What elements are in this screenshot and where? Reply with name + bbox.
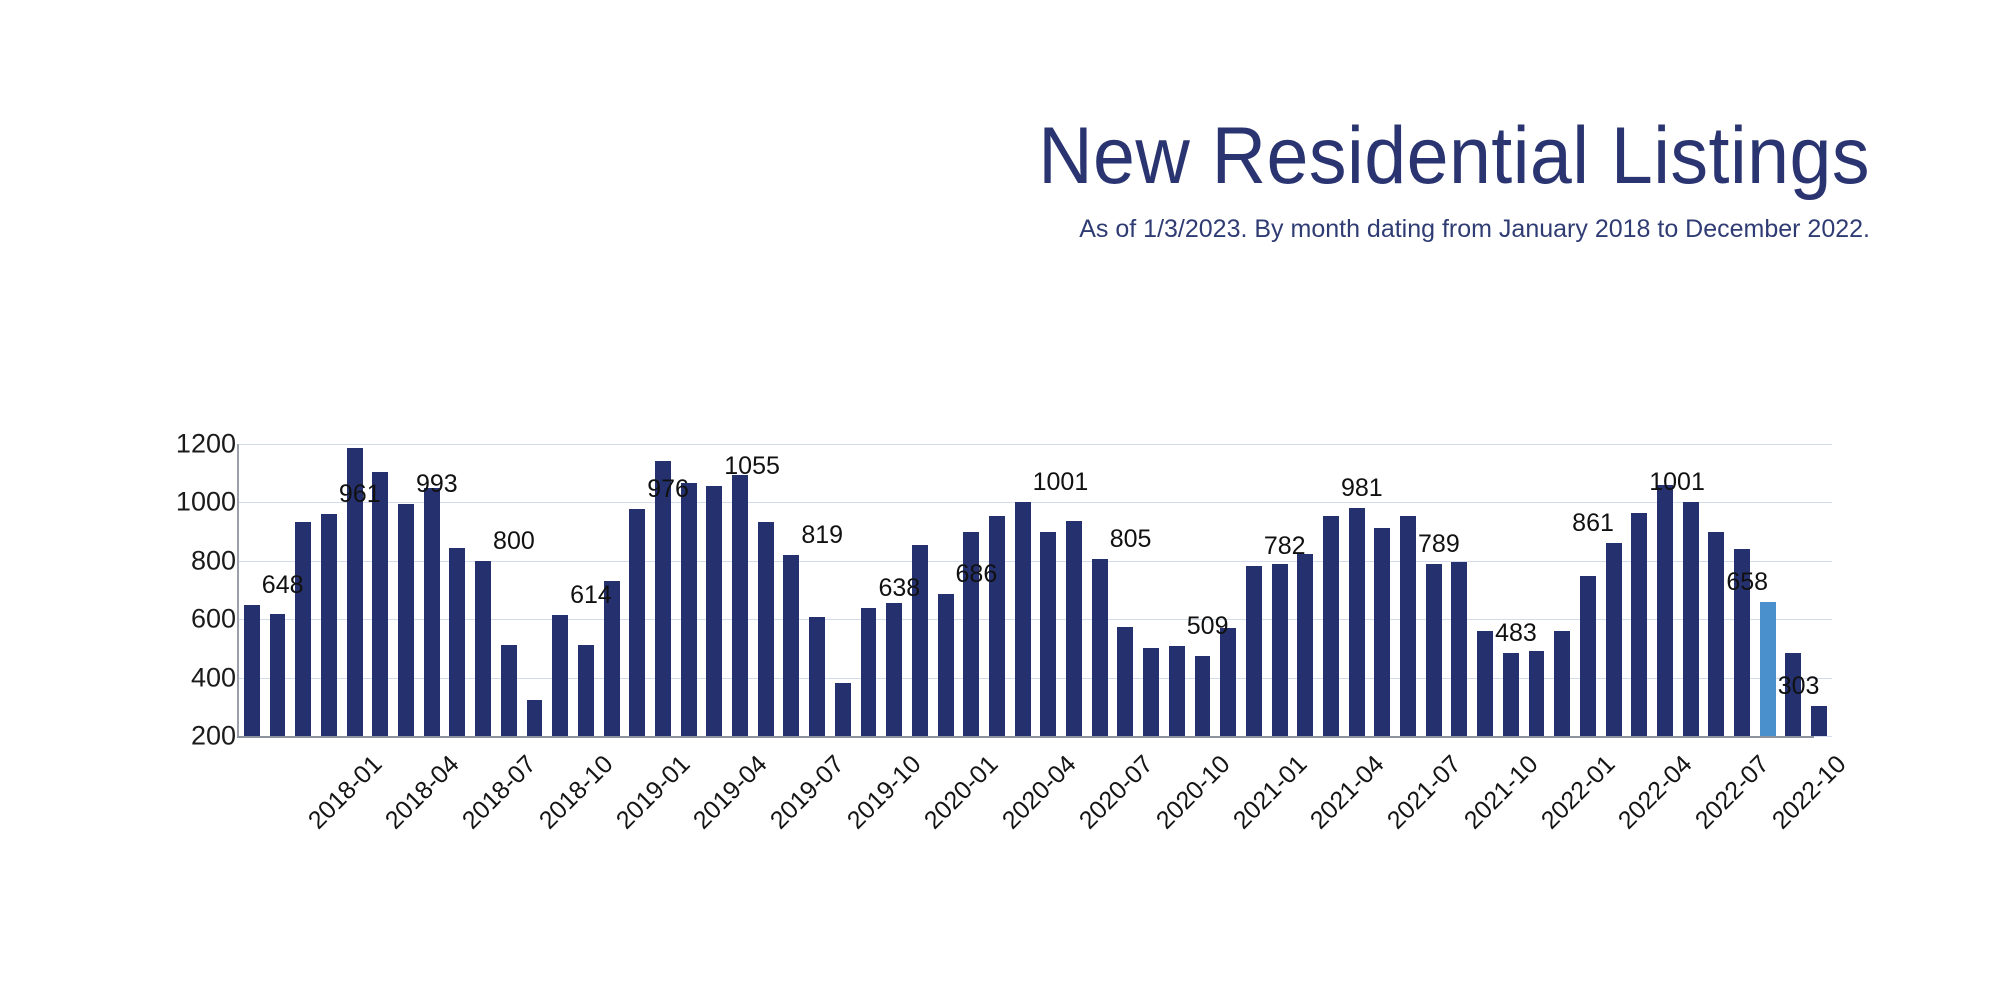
x-axis-tick-label: 2022-01 — [1536, 750, 1621, 835]
bar-chart: 20040060080010001200 6489619938006149761… — [0, 0, 2000, 1000]
x-axis-tick-label: 2020-04 — [996, 750, 1081, 835]
x-axis-tick-label: 2019-07 — [765, 750, 850, 835]
x-axis-tick-label: 2021-07 — [1382, 750, 1467, 835]
x-axis-tick-label: 2020-01 — [919, 750, 1004, 835]
x-axis-tick-label: 2022-10 — [1767, 750, 1852, 835]
chart-page: New Residential Listings As of 1/3/2023.… — [0, 0, 2000, 1000]
x-axis-tick-label: 2018-01 — [303, 750, 388, 835]
x-axis-tick-label: 2021-01 — [1228, 750, 1313, 835]
x-axis-tick-label: 2020-10 — [1151, 750, 1236, 835]
x-axis-tick-label: 2020-07 — [1074, 750, 1159, 835]
x-axis-tick-label: 2019-10 — [842, 750, 927, 835]
x-axis-tick-label: 2018-07 — [457, 750, 542, 835]
x-axis-tick-label: 2018-10 — [534, 750, 619, 835]
x-axis-tick-label: 2022-07 — [1690, 750, 1775, 835]
x-axis-tick-label: 2022-04 — [1613, 750, 1698, 835]
x-axis-tick-label: 2021-10 — [1459, 750, 1544, 835]
x-axis-tick-label: 2018-04 — [380, 750, 465, 835]
x-axis-tick-label: 2021-04 — [1305, 750, 1390, 835]
x-axis: 2018-012018-042018-072018-102019-012019-… — [0, 0, 2000, 1000]
x-axis-tick-label: 2019-01 — [611, 750, 696, 835]
x-axis-tick-label: 2019-04 — [688, 750, 773, 835]
